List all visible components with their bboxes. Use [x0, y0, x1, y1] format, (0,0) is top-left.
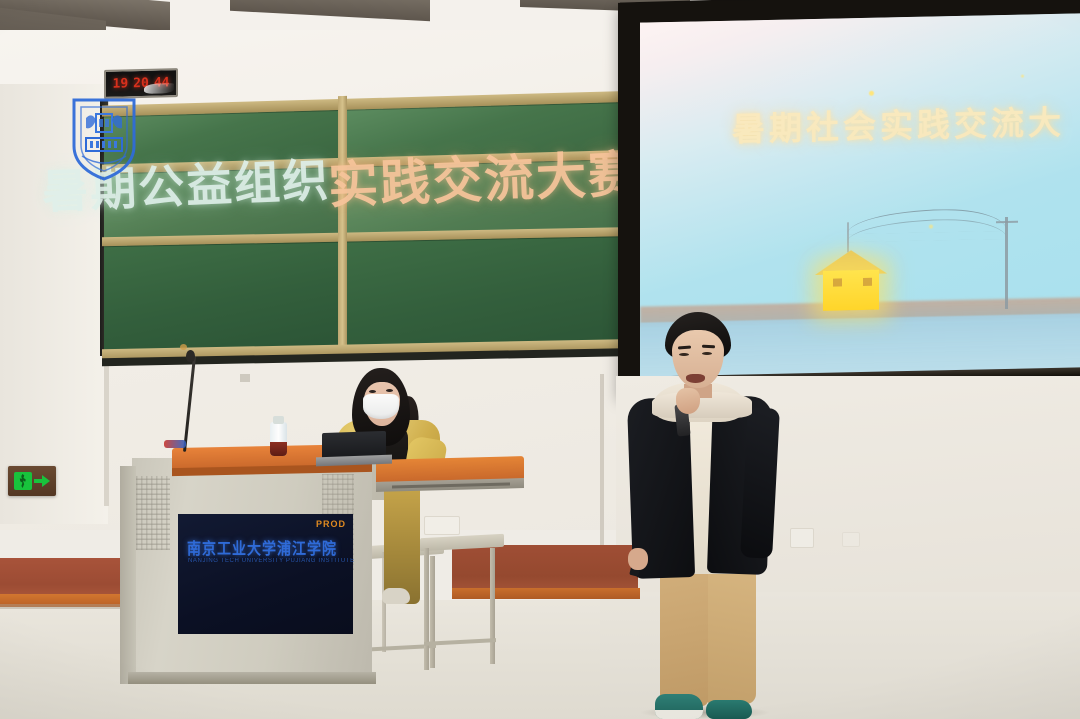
chalk-piece [180, 344, 187, 350]
podium-nameplate-panel: PROD 南京工业大学浦江学院 NANJING TECH UNIVERSITY … [178, 514, 353, 634]
sneaker-sole [655, 710, 703, 719]
clock-glare [144, 83, 174, 94]
wall-outlet [790, 528, 814, 548]
hand-left [628, 548, 648, 570]
slide-antenna [847, 222, 849, 252]
gooseneck-microphone-head [186, 350, 195, 362]
water-bottle-liquid [270, 442, 287, 456]
blackboard-vertical-divider [338, 96, 347, 356]
slide-house-window [833, 278, 842, 286]
podium-base [128, 672, 376, 684]
wall-speaker [240, 374, 250, 382]
slide-house-icon [823, 270, 879, 311]
podium-brand-label: PROD [316, 519, 346, 529]
clock-hours: 19 [113, 76, 129, 91]
podium-side [120, 466, 136, 684]
slide-utility-pole [1005, 217, 1008, 309]
podium-vent-grille [136, 476, 170, 550]
university-name-cn: 南京工业大学浦江学院 [187, 537, 347, 560]
university-name-en: NANJING TECH UNIVERSITY PUJIANG INSTITUT… [188, 558, 348, 564]
chalk-text-orange: 实践交流大赛 [327, 134, 642, 218]
khaki-pants-right [706, 552, 756, 704]
eye [679, 353, 689, 356]
khaki-pants-left [660, 556, 708, 706]
university-crest-icon [68, 96, 140, 182]
classroom-photo-scene: 19 20 44 暑期公益组织 实践交流大赛 暑期社会实践交流大 [0, 0, 1080, 719]
running-person-icon [14, 472, 32, 490]
wall-outlet [424, 516, 460, 535]
right-arrow-icon [34, 475, 50, 487]
eye [369, 390, 376, 393]
wall-outlet [842, 532, 860, 547]
mouth [686, 374, 705, 383]
presentation-clicker [164, 440, 186, 448]
slide-house-window [863, 278, 872, 286]
hand-holding-microphone [676, 388, 700, 414]
water-bottle-cap [273, 416, 284, 424]
blackboard-panel [104, 236, 339, 351]
blackboard-panel [342, 228, 647, 350]
stool-leg [490, 548, 495, 664]
wood-trim [452, 588, 640, 599]
face-mask [363, 394, 399, 419]
exit-sign [8, 466, 56, 496]
stool-leg [430, 556, 435, 668]
slide-title: 暑期社会实践交流大 [732, 96, 1065, 151]
shoe [382, 588, 410, 604]
digital-wall-clock: 19 20 44 [104, 68, 178, 99]
legs [384, 484, 420, 604]
sneaker-right [706, 700, 752, 719]
lectern-podium: PROD 南京工业大学浦江学院 NANJING TECH UNIVERSITY … [120, 452, 370, 684]
eye [386, 389, 393, 392]
eye [702, 352, 712, 355]
eyebrow [702, 345, 715, 349]
stool-leg [424, 548, 429, 670]
